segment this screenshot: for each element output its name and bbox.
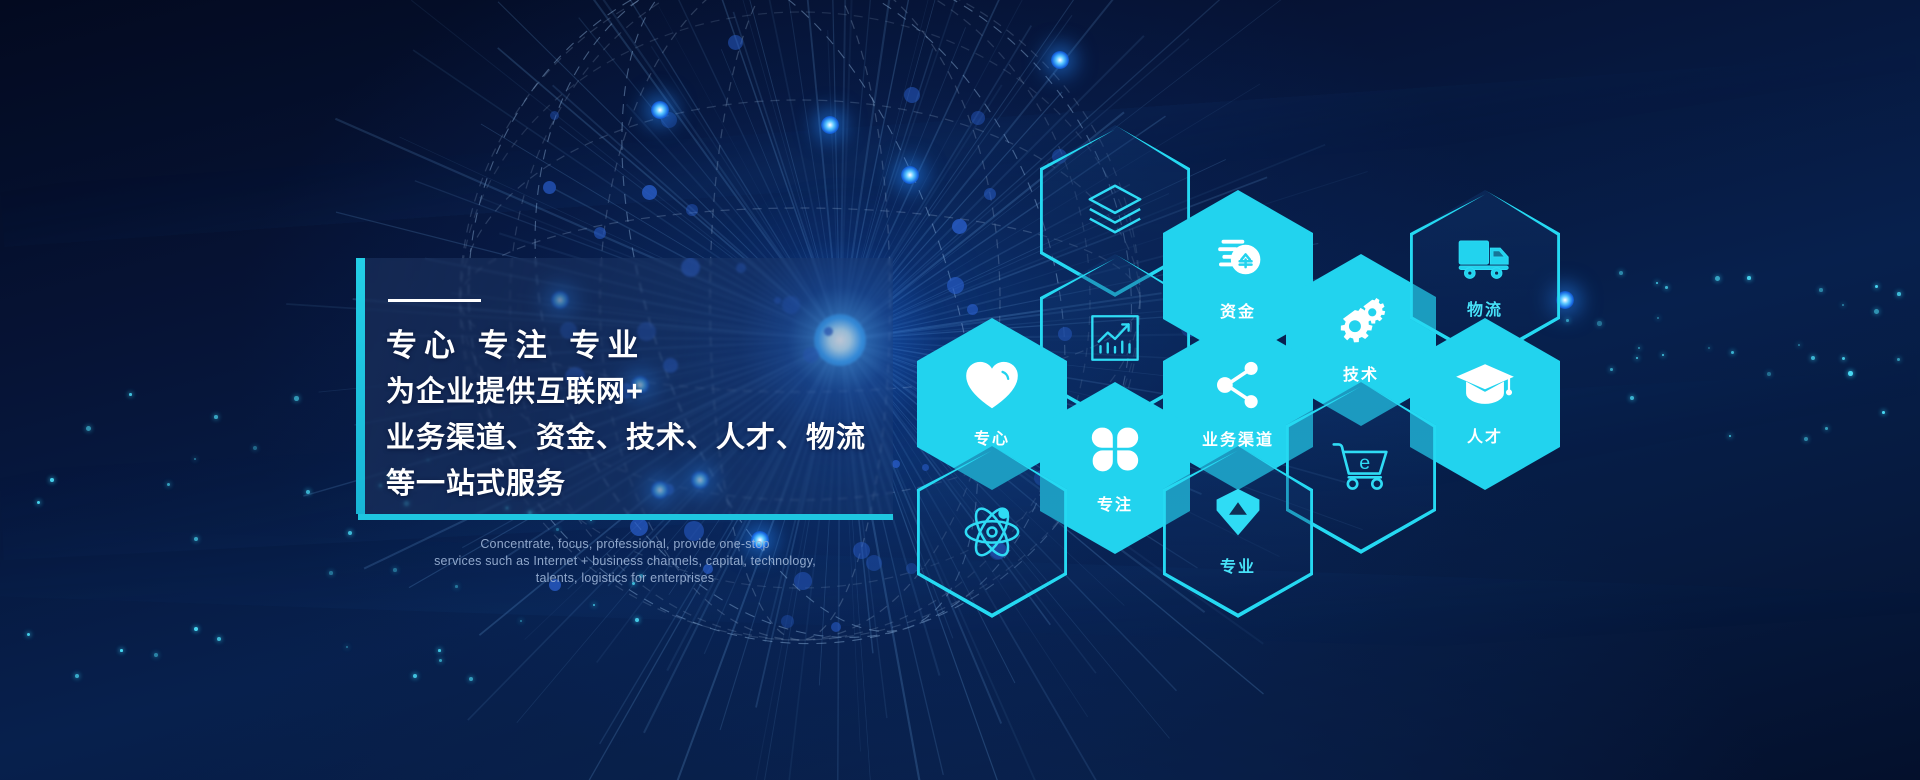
clover-icon <box>1087 421 1143 482</box>
growth-chart-icon <box>1086 309 1144 372</box>
layers-icon <box>1084 178 1146 245</box>
share-nodes-icon <box>1210 358 1266 417</box>
heart-icon <box>964 359 1020 416</box>
hero-banner: 专心 专注 专业 为企业提供互联网+ 业务渠道、资金、技术、人才、物流 等一站式… <box>0 0 1920 780</box>
gears-icon <box>1333 295 1389 352</box>
hex-label-rencai: 人才 <box>1467 423 1503 447</box>
hexagon-cluster: 资金技术物流专心业务渠道人才专注e专业 <box>0 0 1920 780</box>
svg-text:e: e <box>1359 451 1370 473</box>
hex-label-zhuanzhu: 专注 <box>1097 491 1133 515</box>
hex-label-zhuanxin: 专心 <box>974 425 1010 449</box>
graduation-cap-icon <box>1455 361 1515 414</box>
yen-coin-icon <box>1211 230 1265 289</box>
diamond-gem-icon <box>1213 487 1263 544</box>
truck-icon <box>1456 232 1514 287</box>
shopping-cart-e-icon: e <box>1330 438 1392 499</box>
hex-label-zhuanye: 专业 <box>1220 553 1256 577</box>
hex-label-jishu: 技术 <box>1343 361 1379 385</box>
atom-icon <box>961 500 1023 565</box>
hex-label-wuliu: 物流 <box>1467 296 1503 320</box>
